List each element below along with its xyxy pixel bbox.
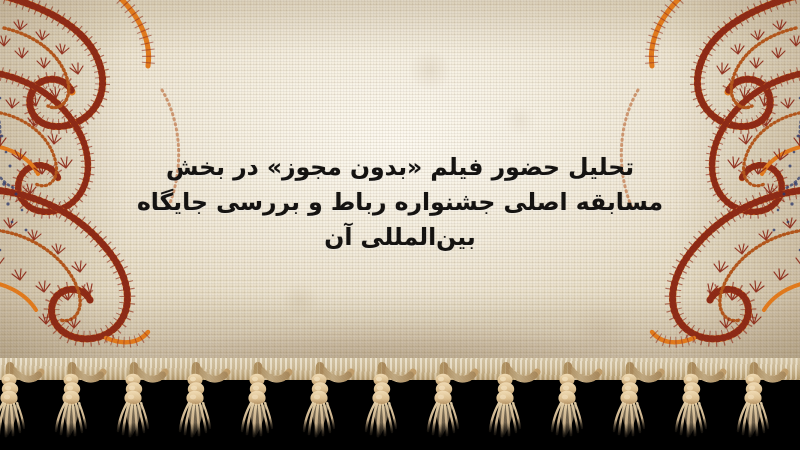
title-line-2: مسابقه اصلی جشنواره رباط و بررسی جایگاه [0,185,800,220]
title-line-3: بین‌المللی آن [0,220,800,255]
page-title: تحلیل حضور فیلم «بدون مجوز» در بخش مسابق… [0,150,800,255]
tassel-row [0,366,785,436]
title-line-1: تحلیل حضور فیلم «بدون مجوز» در بخش [0,150,800,185]
title-card-canvas: تحلیل حضور فیلم «بدون مجوز» در بخش مسابق… [0,0,800,450]
knotted-tassel-fringe [0,360,800,450]
